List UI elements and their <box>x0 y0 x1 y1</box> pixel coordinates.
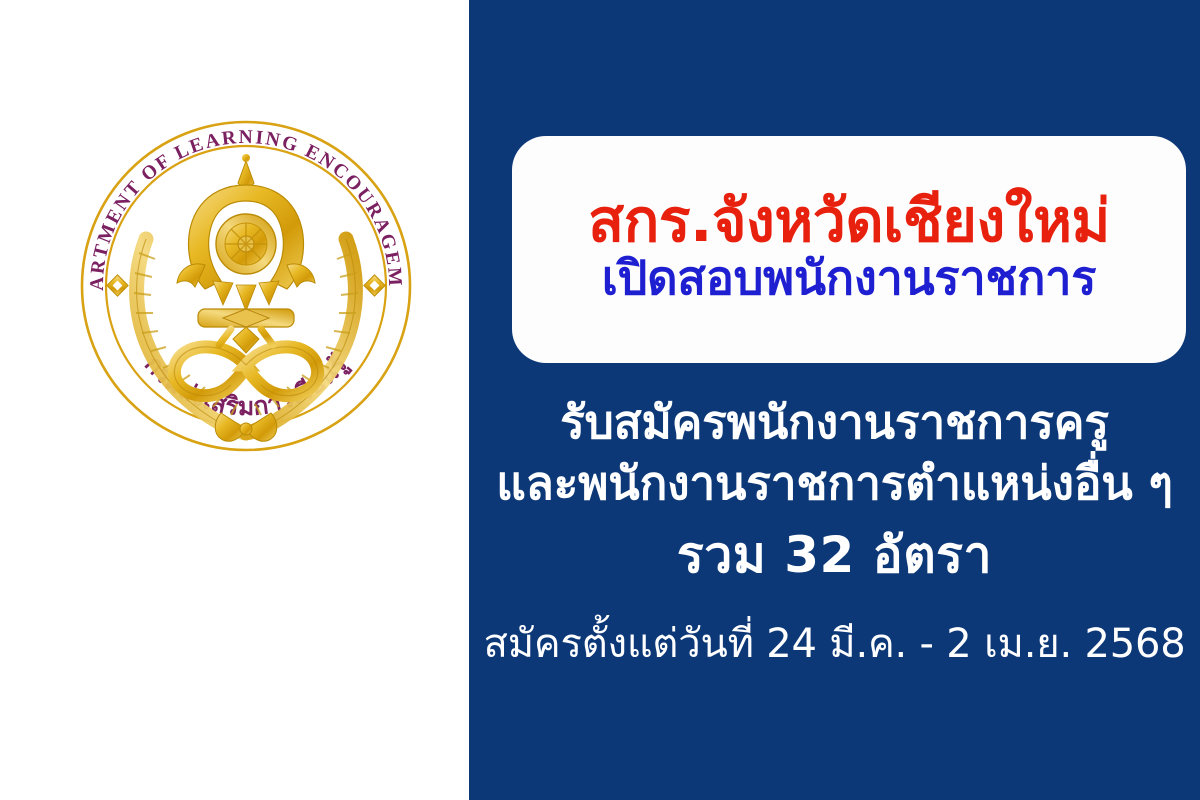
content-panel: สกร.จังหวัดเชียงใหม่ เปิดสอบพนักงานราชกา… <box>469 0 1200 800</box>
emblem-panel: DEPARTMENT OF LEARNING ENCOURAGEMENT กรม… <box>0 0 469 800</box>
announcement-body: รับสมัครพนักงานราชการครู และพนักงานราชกา… <box>469 392 1200 589</box>
announcement-poster: DEPARTMENT OF LEARNING ENCOURAGEMENT กรม… <box>0 0 1200 800</box>
headline-primary: สกร.จังหวัดเชียงใหม่ <box>588 190 1110 253</box>
body-line-teacher-positions: รับสมัครพนักงานราชการครู <box>469 392 1200 453</box>
body-line-total-positions: รวม 32 อัตรา <box>469 522 1200 589</box>
body-line-other-positions: และพนักงานราชการตำแหน่งอื่น ๆ <box>469 453 1200 514</box>
application-date-range: สมัครตั้งแต่วันที่ 24 มี.ค. - 2 เม.ย. 25… <box>469 618 1200 670</box>
department-seal: DEPARTMENT OF LEARNING ENCOURAGEMENT กรม… <box>73 113 419 459</box>
headline-card: สกร.จังหวัดเชียงใหม่ เปิดสอบพนักงานราชกา… <box>512 136 1186 363</box>
department-seal-icon: DEPARTMENT OF LEARNING ENCOURAGEMENT กรม… <box>73 113 419 459</box>
headline-secondary: เปิดสอบพนักงานราชการ <box>602 254 1096 305</box>
